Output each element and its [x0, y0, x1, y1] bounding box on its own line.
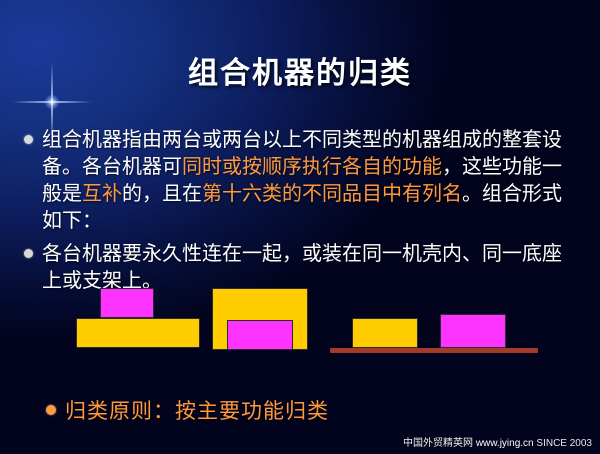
bullet-1-seg-2: 同时或按顺序执行各自的功能: [182, 154, 442, 178]
shape-group3-yellow: [352, 318, 418, 348]
bullet-text-2: 各台机器要永久性连在一起，或装在同一机壳内、同一底座上或支架上。: [42, 240, 580, 294]
shape-group1-bottom-yellow: [76, 318, 200, 348]
bullet-1-seg-6: 第十六类的不同品目中有列名: [202, 181, 462, 205]
page-title: 组合机器的归类: [0, 48, 600, 92]
principle-text: 归类原则：按主要功能归类: [65, 395, 329, 425]
bullet-dot-icon: [24, 249, 33, 258]
footer-site-name: 中国外贸精英网: [403, 438, 473, 449]
principle-line: 归类原则：按主要功能归类: [46, 395, 329, 425]
footer-watermark: 中国外贸精英网 www.jying.cn SINCE 2003: [403, 434, 592, 449]
bullet-dot-icon: [24, 135, 33, 144]
bullet-1-seg-4: 互补: [82, 181, 122, 205]
shape-group3-magenta: [440, 314, 506, 348]
shape-group2-magenta: [227, 320, 293, 350]
footer-domain: www.jying.cn: [476, 438, 534, 449]
bullet-item-2: 各台机器要永久性连在一起，或装在同一机壳内、同一底座上或支架上。: [24, 240, 580, 294]
bullet-item-1: 组合机器指由两台或两台以上不同类型的机器组成的整套设备。各台机器可同时或按顺序执…: [24, 126, 580, 234]
slide-body: 组合机器指由两台或两台以上不同类型的机器组成的整套设备。各台机器可同时或按顺序执…: [24, 126, 580, 300]
bullet-1-seg-5: 的，且在: [122, 181, 202, 205]
diagram-shapes: [0, 288, 600, 368]
bullet-text-1: 组合机器指由两台或两台以上不同类型的机器组成的整套设备。各台机器可同时或按顺序执…: [42, 126, 580, 234]
slide: 组合机器的归类 组合机器指由两台或两台以上不同类型的机器组成的整套设备。各台机器…: [0, 0, 600, 454]
shape-group1-top-magenta: [100, 288, 154, 318]
bullet-2-seg-1: 各台机器要永久性连在一起，或装在同一机壳内、同一底座上或支架上。: [42, 241, 562, 292]
bullet-dot-icon: [46, 405, 56, 415]
footer-since: SINCE 2003: [536, 438, 592, 449]
shape-group3-baseline: [330, 348, 538, 353]
